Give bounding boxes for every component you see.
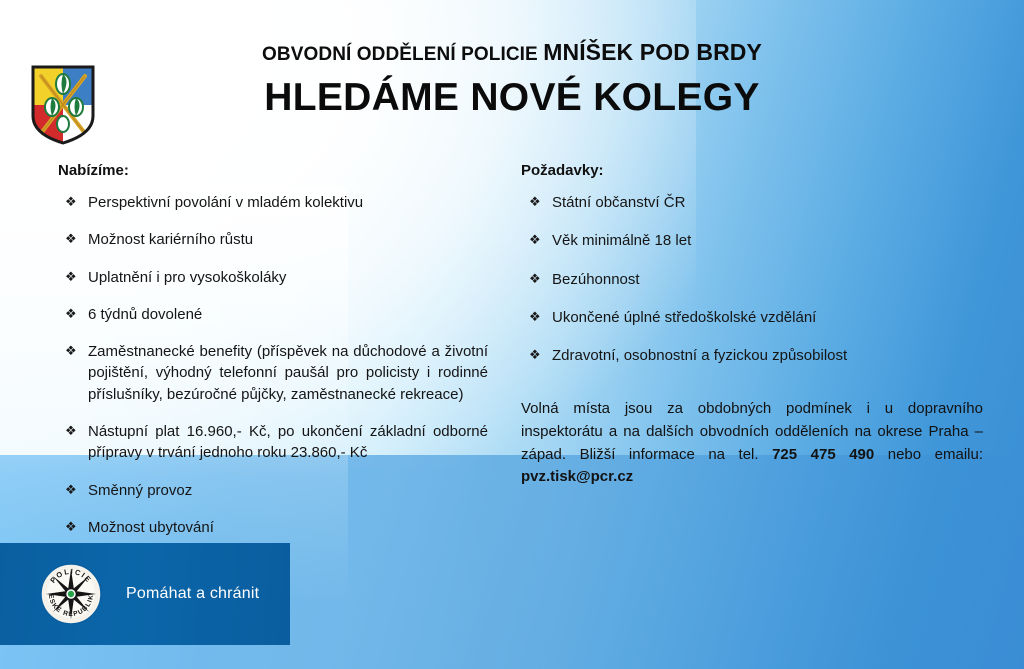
list-item: ❖ Perspektivní povolání v mladém kolekti…: [58, 192, 488, 213]
list-item: ❖ Nástupní plat 16.960,- Kč, po ukončení…: [58, 421, 488, 464]
list-item-text: Možnost ubytování: [88, 517, 488, 538]
list-item-text: Uplatnění i pro vysokoškoláky: [88, 267, 488, 288]
footer-slogan: Pomáhat a chránit: [126, 585, 259, 603]
diamond-bullet-icon: ❖: [65, 480, 88, 500]
list-item: ❖ Zdravotní, osobnostní a fyzickou způso…: [521, 345, 991, 366]
diamond-bullet-icon: ❖: [65, 192, 88, 212]
diamond-bullet-icon: ❖: [529, 269, 552, 289]
department-place: MNÍŠEK POD BRDY: [543, 39, 762, 65]
contact-paragraph: Volná místa jsou za obdobných podmínek i…: [521, 398, 983, 489]
list-item-text: Státní občanství ČR: [552, 192, 991, 213]
recruitment-poster: OBVODNÍ ODDĚLENÍ POLICIE MNÍŠEK POD BRDY…: [0, 0, 1024, 669]
list-item: ❖ Ukončené úplné středoškolské vzdělání: [521, 307, 991, 328]
requirements-column: Požadavky: ❖ Státní občanství ČR ❖ Věk m…: [521, 162, 991, 383]
list-item: ❖ Bezúhonnost: [521, 269, 991, 290]
list-item: ❖ Státní občanství ČR: [521, 192, 991, 213]
diamond-bullet-icon: ❖: [65, 517, 88, 537]
poster-header: OBVODNÍ ODDĚLENÍ POLICIE MNÍŠEK POD BRDY…: [0, 40, 1024, 120]
offer-list: ❖ Perspektivní povolání v mladém kolekti…: [58, 192, 488, 538]
list-item: ❖ 6 týdnů dovolené: [58, 304, 488, 325]
page-title: HLEDÁME NOVÉ KOLEGY: [0, 76, 1024, 120]
list-item-text: Možnost kariérního růstu: [88, 229, 488, 250]
diamond-bullet-icon: ❖: [529, 345, 552, 365]
requirements-list: ❖ Státní občanství ČR ❖ Věk minimálně 18…: [521, 192, 991, 366]
list-item-text: Perspektivní povolání v mladém kolektivu: [88, 192, 488, 213]
list-item: ❖ Uplatnění i pro vysokoškoláky: [58, 267, 488, 288]
contact-phone: 725 475 490: [772, 446, 874, 463]
diamond-bullet-icon: ❖: [529, 307, 552, 327]
list-item-text: Ukončené úplné středoškolské vzdělání: [552, 307, 991, 328]
diamond-bullet-icon: ❖: [529, 192, 552, 212]
list-item: ❖ Možnost kariérního růstu: [58, 229, 488, 250]
requirements-heading: Požadavky:: [521, 162, 991, 179]
list-item-text: Bezúhonnost: [552, 269, 991, 290]
list-item-text: Věk minimálně 18 let: [552, 230, 991, 251]
list-item: ❖ Možnost ubytování: [58, 517, 488, 538]
contact-email: pvz.tisk@pcr.cz: [521, 468, 633, 485]
list-item: ❖ Směnný provoz: [58, 480, 488, 501]
diamond-bullet-icon: ❖: [529, 230, 552, 250]
diamond-bullet-icon: ❖: [65, 421, 88, 441]
list-item-text: Směnný provoz: [88, 480, 488, 501]
offer-heading: Nabízíme:: [58, 162, 488, 179]
department-line: OBVODNÍ ODDĚLENÍ POLICIE MNÍŠEK POD BRDY: [0, 40, 1024, 66]
department-prefix: OBVODNÍ ODDĚLENÍ POLICIE: [262, 44, 538, 65]
diamond-bullet-icon: ❖: [65, 267, 88, 287]
offer-column: Nabízíme: ❖ Perspektivní povolání v mlad…: [58, 162, 488, 554]
diamond-bullet-icon: ❖: [65, 304, 88, 324]
list-item-text: Nástupní plat 16.960,- Kč, po ukončení z…: [88, 421, 488, 464]
list-item: ❖ Zaměstnanecké benefity (příspěvek na d…: [58, 341, 488, 405]
list-item: ❖ Věk minimálně 18 let: [521, 230, 991, 251]
contact-middle-text: nebo emailu:: [874, 446, 983, 463]
diamond-bullet-icon: ❖: [65, 229, 88, 249]
list-item-text: Zaměstnanecké benefity (příspěvek na důc…: [88, 341, 488, 405]
footer-bar: POLICIE ČESKÉ REPUBLIKY Pomáhat a chráni…: [0, 543, 290, 645]
list-item-text: 6 týdnů dovolené: [88, 304, 488, 325]
police-badge-icon: POLICIE ČESKÉ REPUBLIKY: [40, 563, 102, 625]
diamond-bullet-icon: ❖: [65, 341, 88, 361]
list-item-text: Zdravotní, osobnostní a fyzickou způsobi…: [552, 345, 991, 366]
